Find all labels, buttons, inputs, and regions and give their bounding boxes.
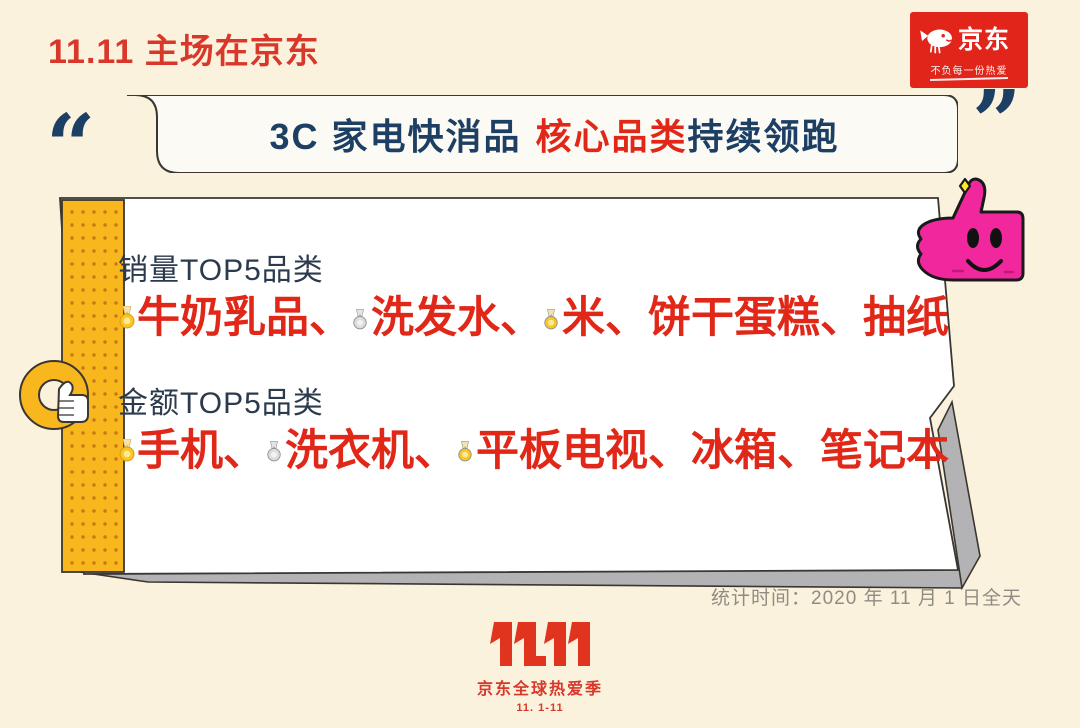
block-items-amount: 手机、洗衣机、平板电视、冰箱、笔记本 bbox=[118, 426, 958, 477]
slide-canvas: 11.11 主场在京东 京东 不负每一份热爱 “ ” 3C 家电快消品 核心品类… bbox=[0, 0, 1080, 728]
block-label-amount: 金额TOP5品类 bbox=[118, 378, 958, 422]
footer-logo: 京东全球热爱季 11. 1-11 bbox=[0, 618, 1080, 714]
category-item: 洗衣机、 bbox=[285, 427, 457, 475]
jd-dog-icon bbox=[919, 26, 955, 56]
banner-title-part1: 3C 家电快消品 bbox=[269, 108, 521, 160]
category-item: 饼干蛋糕、 bbox=[648, 294, 863, 342]
jd-brand-text: 京东 bbox=[958, 25, 1010, 55]
category-item: 平板电视、 bbox=[476, 427, 691, 475]
sales-amount-block: 金额TOP5品类 手机、洗衣机、平板电视、冰箱、笔记本 bbox=[118, 378, 958, 477]
1111-logo-icon bbox=[488, 618, 592, 670]
footer-dates: 11. 1-11 bbox=[516, 702, 563, 714]
banner-title-part3: 持续领跑 bbox=[688, 108, 840, 160]
bronze-medal-icon bbox=[543, 309, 561, 333]
page-title: 11.11 主场在京东 bbox=[48, 24, 320, 73]
pink-thumbs-up-sticker-icon bbox=[908, 176, 1032, 312]
banner-title-part2: 核心品类 bbox=[536, 108, 688, 160]
block-items-volume: 牛奶乳品、洗发水、米、饼干蛋糕、抽纸 bbox=[118, 293, 958, 344]
yellow-ring-thumbs-up-icon bbox=[12, 345, 124, 445]
title-banner-text: 3C 家电快消品 核心品类 持续领跑 bbox=[113, 95, 958, 173]
footer-brand-name: 京东全球热爱季 bbox=[477, 675, 603, 699]
bronze-medal-icon bbox=[457, 441, 475, 465]
silver-medal-icon bbox=[266, 441, 284, 465]
block-label-volume: 销量TOP5品类 bbox=[118, 245, 958, 289]
content-card: 销量TOP5品类 牛奶乳品、洗发水、米、饼干蛋糕、抽纸 金额TOP5品类 bbox=[18, 190, 1018, 600]
sales-volume-block: 销量TOP5品类 牛奶乳品、洗发水、米、饼干蛋糕、抽纸 bbox=[118, 245, 958, 344]
category-item: 手机、 bbox=[137, 427, 266, 475]
category-item: 牛奶乳品、 bbox=[137, 294, 352, 342]
category-item: 洗发水、 bbox=[371, 294, 543, 342]
statistics-time-note: 统计时间：2020 年 11 月 1 日全天 bbox=[711, 583, 1022, 610]
card-content: 销量TOP5品类 牛奶乳品、洗发水、米、饼干蛋糕、抽纸 金额TOP5品类 bbox=[118, 245, 958, 476]
title-banner: 3C 家电快消品 核心品类 持续领跑 bbox=[113, 95, 958, 173]
silver-medal-icon bbox=[352, 309, 370, 333]
category-item: 冰箱、 bbox=[691, 427, 820, 475]
category-item: 笔记本 bbox=[820, 427, 949, 475]
quote-close-icon: ” bbox=[972, 80, 1021, 166]
quote-open-icon: “ bbox=[46, 104, 95, 190]
category-item: 米、 bbox=[562, 294, 648, 342]
amount-items-text: 手机、洗衣机、平板电视、冰箱、笔记本 bbox=[137, 426, 949, 477]
volume-items-text: 牛奶乳品、洗发水、米、饼干蛋糕、抽纸 bbox=[137, 293, 949, 344]
gold-medal-icon bbox=[118, 306, 136, 330]
